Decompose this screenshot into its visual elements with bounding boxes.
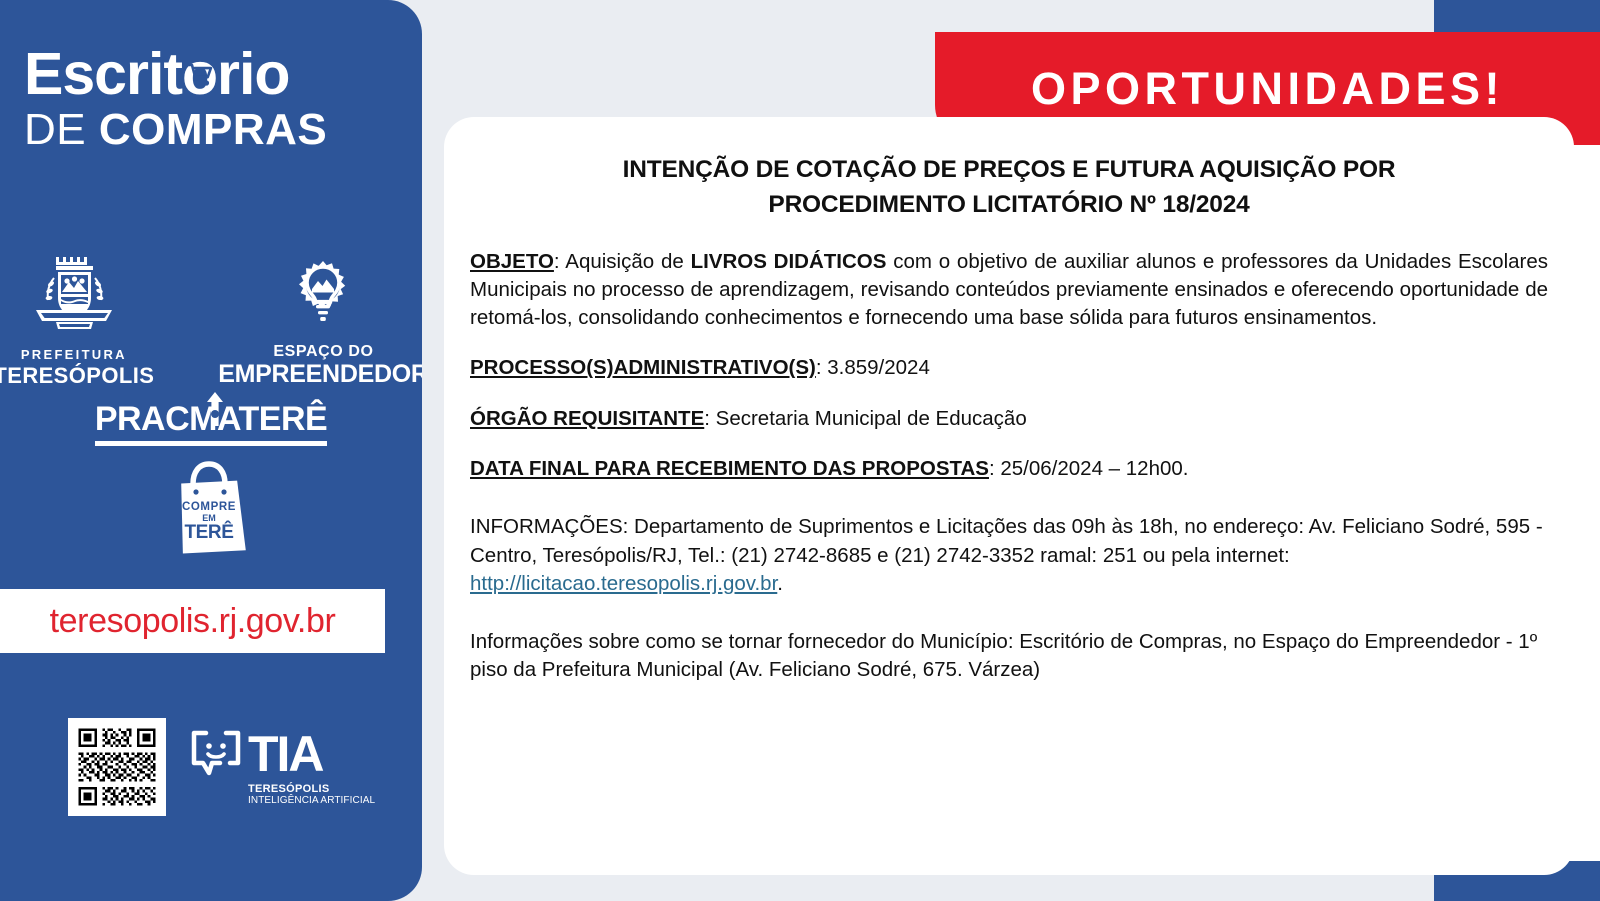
coat-of-arms-icon [22, 248, 126, 340]
brand-line-escritorio: Escritorio [24, 46, 400, 102]
oportunidades-banner-text: OPORTUNIDADES! [1031, 63, 1504, 115]
data-final-label: DATA FINAL PARA RECEBIMENTO DAS PROPOSTA… [470, 457, 989, 480]
objeto-label: OBJETO [470, 250, 554, 273]
tia-subtitle-city: TERESÓPOLIS [248, 783, 330, 795]
tia-subtitle-description: INTELIGÊNCIA ARTIFICIAL [248, 795, 375, 806]
website-url-bar[interactable]: teresopolis.rj.gov.br [0, 589, 385, 653]
informacoes-paragraph: INFORMAÇÕES: Departamento de Suprimentos… [470, 513, 1548, 598]
processo-label: PROCESSO(S)ADMINISTRATIVO(S) [470, 356, 816, 379]
tia-logo: TIA TERESÓPOLIS INTELIGÊNCIA ARTIFICIAL [188, 729, 375, 806]
page-title: INTENÇÃO DE COTAÇÃO DE PREÇOS E FUTURA A… [458, 153, 1560, 223]
data-final-value: : 25/06/2024 – 12h00. [989, 457, 1189, 480]
poster-page: Escritorio DE COMPRAS [0, 0, 1600, 901]
objeto-paragraph: OBJETO: Aquisição de LIVROS DIDÁTICOS co… [470, 248, 1548, 333]
qr-code-icon[interactable] [68, 718, 166, 816]
objeto-highlight: LIVROS DIDÁTICOS [691, 250, 887, 273]
prefeitura-label-line2: TERESÓPOLIS [0, 363, 154, 389]
empreendedor-label-line1: ESPAÇO DO [218, 343, 422, 361]
notice-body: OBJETO: Aquisição de LIVROS DIDÁTICOS co… [458, 248, 1560, 685]
logo-prefeitura-teresopolis: PREFEITURA TERESÓPOLIS [0, 248, 154, 389]
partner-logos-row: PREFEITURA TERESÓPOLIS [0, 248, 422, 389]
orgao-paragraph: ÓRGÃO REQUISITANTE: Secretaria Municipal… [470, 405, 1548, 433]
processo-value: : 3.859/2024 [816, 356, 930, 379]
bag-text-compre: COMPRE [182, 501, 236, 513]
brand-o-with-cart: o [182, 46, 217, 102]
informacoes-suffix: . [777, 572, 783, 595]
shopping-cart-icon [187, 63, 213, 87]
page-title-line1: INTENÇÃO DE COTAÇÃO DE PREÇOS E FUTURA A… [623, 156, 1396, 183]
objeto-separator: : Aquisição de [554, 250, 691, 273]
orgao-label: ÓRGÃO REQUISITANTE [470, 407, 704, 430]
pracimatere-logo: PRACMATERÊ [0, 400, 422, 446]
compre-em-tere-logo: COMPRE EM TERÊ [0, 452, 422, 561]
lightbulb-gear-icon [285, 259, 361, 333]
empreendedor-label-line2: EMPREENDEDOR [218, 360, 422, 389]
licitacao-link[interactable]: http://licitacao.teresopolis.rj.gov.br [470, 572, 777, 595]
data-final-paragraph: DATA FINAL PARA RECEBIMENTO DAS PROPOSTA… [470, 455, 1548, 483]
notice-card: INTENÇÃO DE COTAÇÃO DE PREÇOS E FUTURA A… [444, 117, 1574, 875]
tia-block: TIA TERESÓPOLIS INTELIGÊNCIA ARTIFICIAL [68, 718, 375, 816]
bag-text-tere: TERÊ [184, 521, 233, 543]
escritorio-de-compras-logo: Escritorio DE COMPRAS [24, 46, 400, 152]
prefeitura-label-line1: PREFEITURA [0, 347, 154, 362]
corner-accent-top-right [1434, 0, 1600, 32]
brand-line-de-compras: DE COMPRAS [24, 108, 400, 152]
brand-text-rio: rio [217, 41, 289, 107]
informacoes-text: INFORMAÇÕES: Departamento de Suprimentos… [470, 515, 1543, 566]
processo-paragraph: PROCESSO(S)ADMINISTRATIVO(S): 3.859/2024 [470, 354, 1548, 382]
logo-espaco-do-empreendedor: ESPAÇO DO EMPREENDEDOR [218, 255, 422, 389]
brand-text-escrit: Escrit [24, 41, 182, 107]
website-url-text: teresopolis.rj.gov.br [50, 602, 336, 641]
shopping-bag-icon: COMPRE EM TERÊ [163, 452, 259, 556]
tia-wordmark: TIA [248, 732, 323, 777]
chat-bubble-face-icon [188, 729, 244, 781]
page-title-line2: PROCEDIMENTO LICITATÓRIO Nº 18/2024 [768, 191, 1249, 218]
brand-text-compras: COMPRAS [99, 105, 327, 154]
location-pin-icon [204, 392, 226, 426]
brand-text-de: DE [24, 105, 86, 154]
pracimatere-wordmark: PRACMATERÊ [95, 400, 327, 446]
tia-logo-top: TIA [188, 729, 323, 781]
pracimatere-part-a: PRAC [95, 400, 189, 438]
orgao-value: : Secretaria Municipal de Educação [704, 407, 1027, 430]
brand-sidebar: Escritorio DE COMPRAS [0, 0, 422, 901]
fornecedor-paragraph: Informações sobre como se tornar fornece… [470, 628, 1548, 685]
